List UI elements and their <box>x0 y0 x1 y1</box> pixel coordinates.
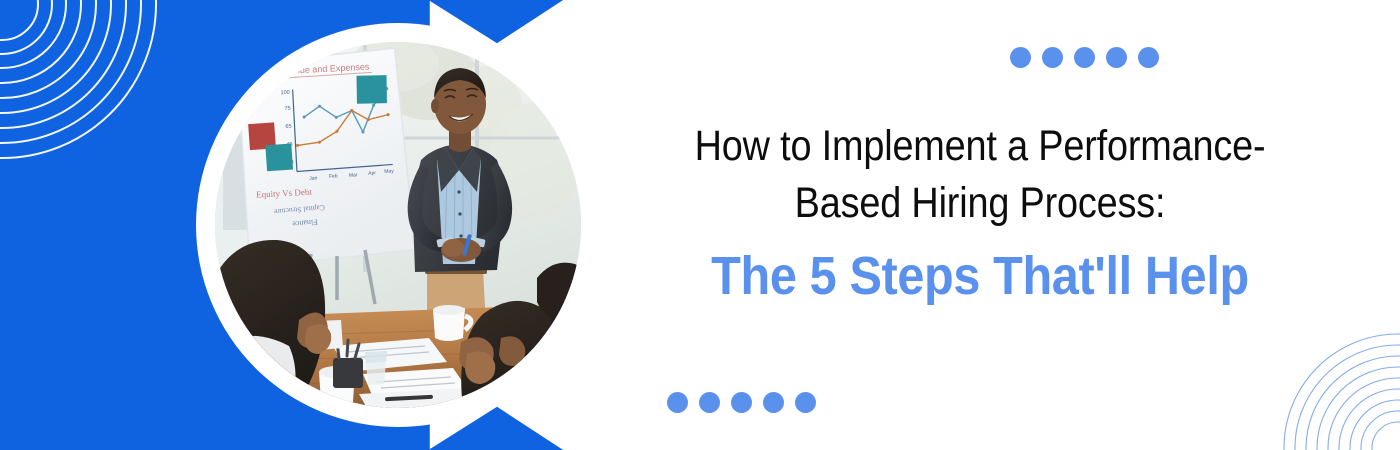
photo-circle-frame: Revenue and Expenses 100 75 65 40 20 <box>196 23 600 427</box>
dot-icon <box>1042 47 1063 68</box>
headline-block: How to Implement a Performance- Based Hi… <box>620 118 1340 308</box>
presentation-photo: Revenue and Expenses 100 75 65 40 20 <box>215 42 581 408</box>
page-title: How to Implement a Performance- Based Hi… <box>663 118 1297 232</box>
dot-icon <box>1074 47 1095 68</box>
five-dot-accent-bottom <box>667 392 816 413</box>
headline-line-2: Based Hiring Process: <box>795 179 1166 227</box>
concentric-arcs-bottom-right-icon <box>1240 300 1400 450</box>
dot-icon <box>1138 47 1159 68</box>
dot-icon <box>731 392 752 413</box>
dot-icon <box>763 392 784 413</box>
dot-icon <box>667 392 688 413</box>
promo-banner: Revenue and Expenses 100 75 65 40 20 <box>0 0 1400 450</box>
dot-icon <box>699 392 720 413</box>
dot-icon <box>1106 47 1127 68</box>
dot-icon <box>1010 47 1031 68</box>
dot-icon <box>795 392 816 413</box>
subheadline: The 5 Steps That'll Help <box>656 244 1304 309</box>
five-dot-accent-top <box>1010 47 1159 68</box>
headline-line-1: How to Implement a Performance- <box>695 122 1266 170</box>
